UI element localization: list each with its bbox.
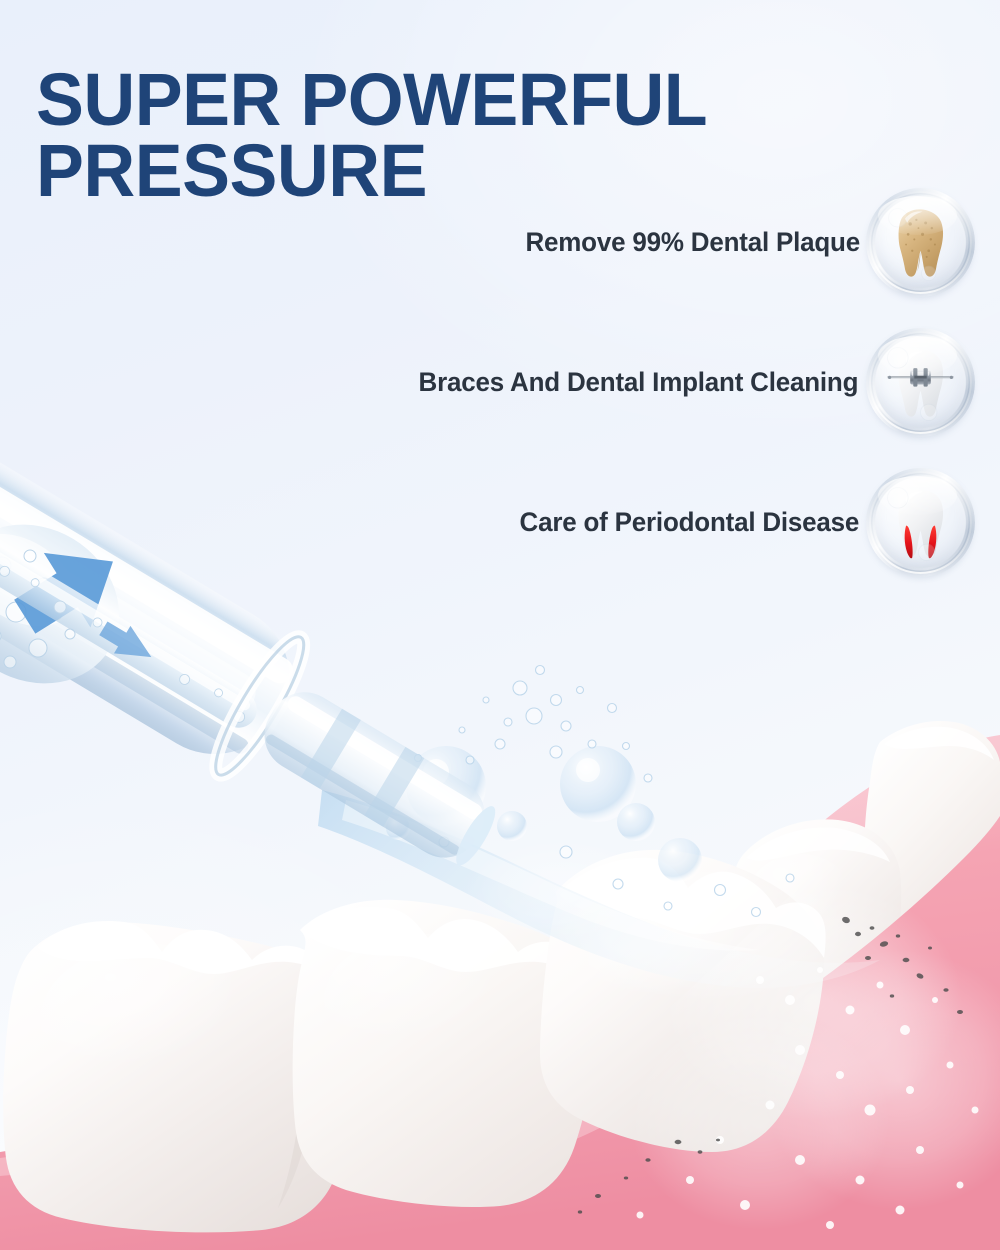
molar-front-row [3,850,825,1233]
feature-list: Remove 99% Dental Plaque [0,186,972,606]
tooth-with-braces-icon [869,331,972,434]
gum-tissue-front [0,816,1000,1250]
feature-label-braces: Braces And Dental Implant Cleaning [419,367,865,398]
feature-item-plaque: Remove 99% Dental Plaque [0,186,972,298]
page-title: SUPER POWERFUL PRESSURE [36,64,909,206]
nozzle-collar-ring [203,628,316,784]
feature-label-plaque: Remove 99% Dental Plaque [525,227,865,258]
headline-line-1: SUPER POWERFUL [36,64,909,135]
feature-item-periodontal: Care of Periodontal Disease [0,466,972,578]
feature-item-braces: Braces And Dental Implant Cleaning [0,326,972,438]
feature-label-periodontal: Care of Periodontal Disease [520,507,866,538]
foam-spray-gumline [630,880,1000,1230]
plaque-stained-tooth-icon [869,191,972,294]
gum-tissue-back [562,735,1000,1250]
tooth-inflamed-gums-icon [869,471,972,574]
product-feature-banner: SUPER POWERFUL PRESSURE Remove 99% Denta… [0,0,1000,1250]
water-jet-spray [318,666,880,1003]
molar-back-row [725,721,1000,1054]
plaque-debris-particles [578,916,963,1214]
nozzle-tip-shaft [251,679,505,875]
